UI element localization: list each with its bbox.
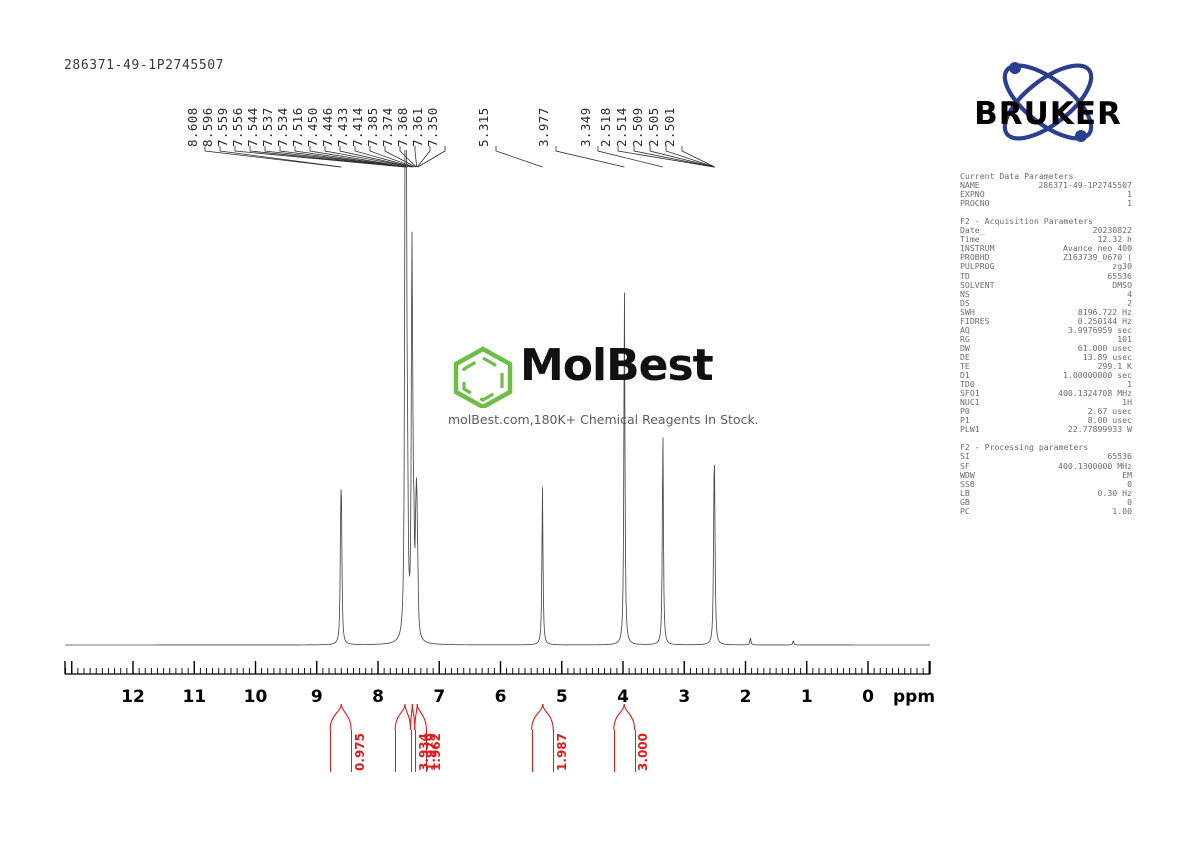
param-value: 3.9976959 sec <box>1014 326 1132 335</box>
peak-shift-label: 7.368 <box>395 107 410 147</box>
peak-shift-label: 5.315 <box>476 107 491 147</box>
param-row: NAME286371-49-1P2745507 <box>960 181 1132 190</box>
param-value: 1.00 <box>1014 507 1132 516</box>
peak-shift-label: 3.349 <box>578 107 593 147</box>
param-value: 0.30 Hz <box>1014 489 1132 498</box>
param-value: 4 <box>1014 290 1132 299</box>
param-value: 400.1324708 MHz <box>1014 389 1132 398</box>
peak-shift-label: 8.608 <box>185 107 200 147</box>
peak-shift-label: 2.518 <box>598 107 613 147</box>
param-row: WDWEM <box>960 471 1132 480</box>
integral-value-label: 3.000 <box>636 733 650 771</box>
peak-shift-label: 7.450 <box>305 107 320 147</box>
peak-shift-label: 7.414 <box>350 107 365 147</box>
integral-value-label: 1.962 <box>429 733 443 771</box>
peak-shift-label: 2.509 <box>630 107 645 147</box>
param-row: PLW122.77899933 W <box>960 425 1132 434</box>
peak-shift-label: 7.516 <box>290 107 305 147</box>
molbest-watermark: MolBest molBest.com,180K+ Chemical Reage… <box>448 342 748 434</box>
peak-shift-label: 3.977 <box>536 107 551 147</box>
integral-rail <box>553 730 554 772</box>
peak-shift-label: 7.374 <box>380 107 395 147</box>
param-key: PROCNO <box>960 199 1014 208</box>
ppm-axis: ppm 1211109876543210 <box>0 660 940 710</box>
peak-shift-label: 7.446 <box>320 107 335 147</box>
peak-shift-label: 7.350 <box>425 107 440 147</box>
molbest-wordmark: MolBest <box>520 340 713 391</box>
param-value: 1 <box>1014 199 1132 208</box>
peak-shift-label: 2.501 <box>662 107 677 147</box>
param-row: LB0.30 Hz <box>960 489 1132 498</box>
param-key: PC <box>960 507 1014 516</box>
param-value: 1.00000000 sec <box>1014 371 1132 380</box>
integral-curve <box>614 704 635 730</box>
axis-ruler-svg <box>0 660 940 682</box>
integral-curve <box>415 704 427 730</box>
integral-rail <box>635 730 636 772</box>
integral-curve <box>330 704 351 730</box>
param-section-heading: F2 - Processing parameters <box>960 443 1132 452</box>
peak-shift-label: 7.544 <box>245 107 260 147</box>
param-value: DMSO <box>1014 281 1132 290</box>
integral-strip: 0.9753.9341.9791.9621.9873.000 <box>0 704 940 784</box>
molbest-hexagon-icon <box>450 346 516 408</box>
param-value: 1 <box>1014 190 1132 199</box>
integral-rail <box>395 730 396 772</box>
bruker-wordmark: BRUKER <box>958 96 1138 132</box>
integral-value-label: 1.987 <box>555 733 569 771</box>
integral-rail <box>411 730 412 772</box>
peak-label-strip: 8.6088.5967.5597.5567.5447.5377.5347.516… <box>0 62 940 147</box>
param-row: PC1.00 <box>960 507 1132 516</box>
param-row: D11.00000000 sec <box>960 371 1132 380</box>
param-value: EM <box>1014 471 1132 480</box>
integral-value-label: 0.975 <box>353 733 367 771</box>
param-row: SOLVENTDMSO <box>960 281 1132 290</box>
peak-shift-label: 7.361 <box>410 107 425 147</box>
peak-shift-label: 7.385 <box>365 107 380 147</box>
bruker-logo: BRUKER <box>958 52 1138 152</box>
param-value: 400.1300000 MHz <box>1014 462 1132 471</box>
param-row: PULPROGzg30 <box>960 262 1132 271</box>
integral-rail <box>351 730 352 772</box>
param-row: AQ3.9976959 sec <box>960 326 1132 335</box>
param-row: SF400.1300000 MHz <box>960 462 1132 471</box>
param-value: 286371-49-1P2745507 <box>1014 181 1132 190</box>
param-row: NS4 <box>960 290 1132 299</box>
param-row: PROCNO1 <box>960 199 1132 208</box>
peak-shift-label: 7.559 <box>215 107 230 147</box>
peak-shift-label: 7.537 <box>260 107 275 147</box>
peak-shift-label: 2.514 <box>614 107 629 147</box>
integral-curves-svg <box>0 704 940 730</box>
peak-shift-label: 2.505 <box>646 107 661 147</box>
peak-shift-label: 7.534 <box>275 107 290 147</box>
integral-rail <box>330 730 331 772</box>
integral-rail <box>614 730 615 772</box>
peak-shift-label: 7.433 <box>335 107 350 147</box>
integral-curve <box>395 704 410 730</box>
param-key: PLW1 <box>960 425 1014 434</box>
integral-curve <box>532 704 554 730</box>
param-row: GB0 <box>960 498 1132 507</box>
param-value: 22.77899933 W <box>1014 425 1132 434</box>
acquisition-parameters-panel: Current Data ParametersNAME286371-49-1P2… <box>960 172 1132 516</box>
integral-rail <box>426 730 427 772</box>
param-row: SFO1400.1324708 MHz <box>960 389 1132 398</box>
integral-rail <box>415 730 416 772</box>
molbest-tagline: molBest.com,180K+ Chemical Reagents In S… <box>448 412 748 427</box>
peak-shift-label: 8.596 <box>200 107 215 147</box>
integral-curve <box>411 704 415 730</box>
integral-rail <box>532 730 533 772</box>
peak-shift-label: 7.556 <box>230 107 245 147</box>
